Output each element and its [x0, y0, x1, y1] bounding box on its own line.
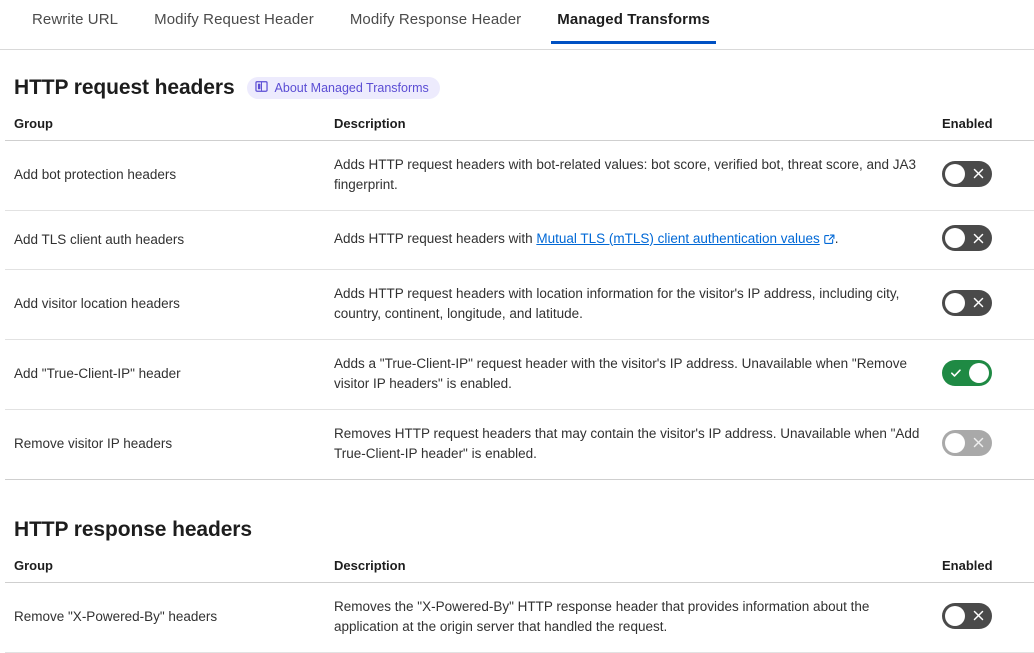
table-row: Add TLS client auth headers Adds HTTP re… [5, 211, 1034, 270]
toggle-knob [969, 363, 989, 383]
toggle-knob [945, 293, 965, 313]
http-response-headers-section: HTTP response headers Group Description … [5, 518, 1029, 653]
about-managed-transforms-label: About Managed Transforms [275, 81, 429, 95]
cross-icon [973, 290, 984, 316]
mutual-tls-link[interactable]: Mutual TLS (mTLS) client authentication … [536, 231, 819, 246]
tab-rewrite-url[interactable]: Rewrite URL [14, 0, 136, 43]
row-description: Adds HTTP request headers with location … [325, 270, 933, 340]
row-enabled-cell [933, 410, 1034, 480]
row-description: Adds a "True-Client-IP" request header w… [325, 340, 933, 410]
toggle-add-bot-protection-headers[interactable] [942, 161, 992, 187]
tab-modify-request-header[interactable]: Modify Request Header [136, 0, 332, 43]
table-row: Add "True-Client-IP" header Adds a "True… [5, 340, 1034, 410]
row-description-text: Removes the "X-Powered-By" HTTP response… [334, 599, 869, 634]
row-enabled-cell [933, 583, 1034, 653]
table-row: Add bot protection headers Adds HTTP req… [5, 141, 1034, 211]
tab-bar: Rewrite URL Modify Request Header Modify… [0, 0, 1034, 50]
row-description-text: Adds HTTP request headers with bot-relat… [334, 157, 916, 192]
response-headers-table: Group Description Enabled Remove "X-Powe… [5, 558, 1034, 653]
response-section-header: HTTP response headers [5, 518, 1029, 542]
tab-modify-response-header[interactable]: Modify Response Header [332, 0, 539, 43]
row-group-label: Add "True-Client-IP" header [5, 340, 325, 410]
table-row: Remove "X-Powered-By" headers Removes th… [5, 583, 1034, 653]
row-enabled-cell [933, 270, 1034, 340]
table-row: Add visitor location headers Adds HTTP r… [5, 270, 1034, 340]
row-group-label: Add bot protection headers [5, 141, 325, 211]
toggle-knob [945, 606, 965, 626]
cross-icon [973, 161, 984, 187]
column-header-enabled: Enabled [933, 558, 1034, 583]
row-description: Removes the "X-Powered-By" HTTP response… [325, 583, 933, 653]
toggle-knob [945, 164, 965, 184]
check-icon [950, 360, 962, 386]
row-description-suffix: . [835, 231, 839, 246]
row-description-text: Adds HTTP request headers with [334, 231, 536, 246]
cross-icon [973, 430, 984, 456]
request-headers-table: Group Description Enabled Add bot protec… [5, 116, 1034, 480]
cross-icon [973, 603, 984, 629]
page-title-request: HTTP request headers [14, 76, 235, 100]
tab-managed-transforms[interactable]: Managed Transforms [539, 0, 728, 43]
row-description-text: Adds a "True-Client-IP" request header w… [334, 356, 907, 391]
column-header-enabled: Enabled [933, 116, 1034, 141]
toggle-remove-x-powered-by-headers[interactable] [942, 603, 992, 629]
row-group-label: Remove "X-Powered-By" headers [5, 583, 325, 653]
http-request-headers-section: HTTP request headers About Managed Trans… [5, 76, 1029, 480]
external-link-icon[interactable] [824, 231, 835, 251]
toggle-knob [945, 228, 965, 248]
column-header-description: Description [325, 558, 933, 583]
table-header-row: Group Description Enabled [5, 116, 1034, 141]
toggle-add-true-client-ip-header[interactable] [942, 360, 992, 386]
row-enabled-cell [933, 340, 1034, 410]
table-header-row: Group Description Enabled [5, 558, 1034, 583]
row-enabled-cell [933, 141, 1034, 211]
page-content: HTTP request headers About Managed Trans… [0, 76, 1034, 653]
row-description: Removes HTTP request headers that may co… [325, 410, 933, 480]
page-title-response: HTTP response headers [14, 518, 252, 542]
toggle-knob [945, 433, 965, 453]
request-section-header: HTTP request headers About Managed Trans… [5, 76, 1029, 100]
toggle-add-tls-client-auth-headers[interactable] [942, 225, 992, 251]
row-description: Adds HTTP request headers with Mutual TL… [325, 211, 933, 270]
toggle-add-visitor-location-headers[interactable] [942, 290, 992, 316]
table-row: Remove visitor IP headers Removes HTTP r… [5, 410, 1034, 480]
about-managed-transforms-chip[interactable]: About Managed Transforms [247, 77, 440, 99]
row-group-label: Add TLS client auth headers [5, 211, 325, 270]
row-description: Adds HTTP request headers with bot-relat… [325, 141, 933, 211]
row-description-text: Removes HTTP request headers that may co… [334, 426, 919, 461]
row-description-text: Adds HTTP request headers with location … [334, 286, 899, 321]
row-enabled-cell [933, 211, 1034, 270]
cross-icon [973, 225, 984, 251]
column-header-group: Group [5, 116, 325, 141]
column-header-group: Group [5, 558, 325, 583]
row-group-label: Add visitor location headers [5, 270, 325, 340]
row-group-label: Remove visitor IP headers [5, 410, 325, 480]
toggle-remove-visitor-ip-headers [942, 430, 992, 456]
book-icon [255, 80, 268, 96]
column-header-description: Description [325, 116, 933, 141]
